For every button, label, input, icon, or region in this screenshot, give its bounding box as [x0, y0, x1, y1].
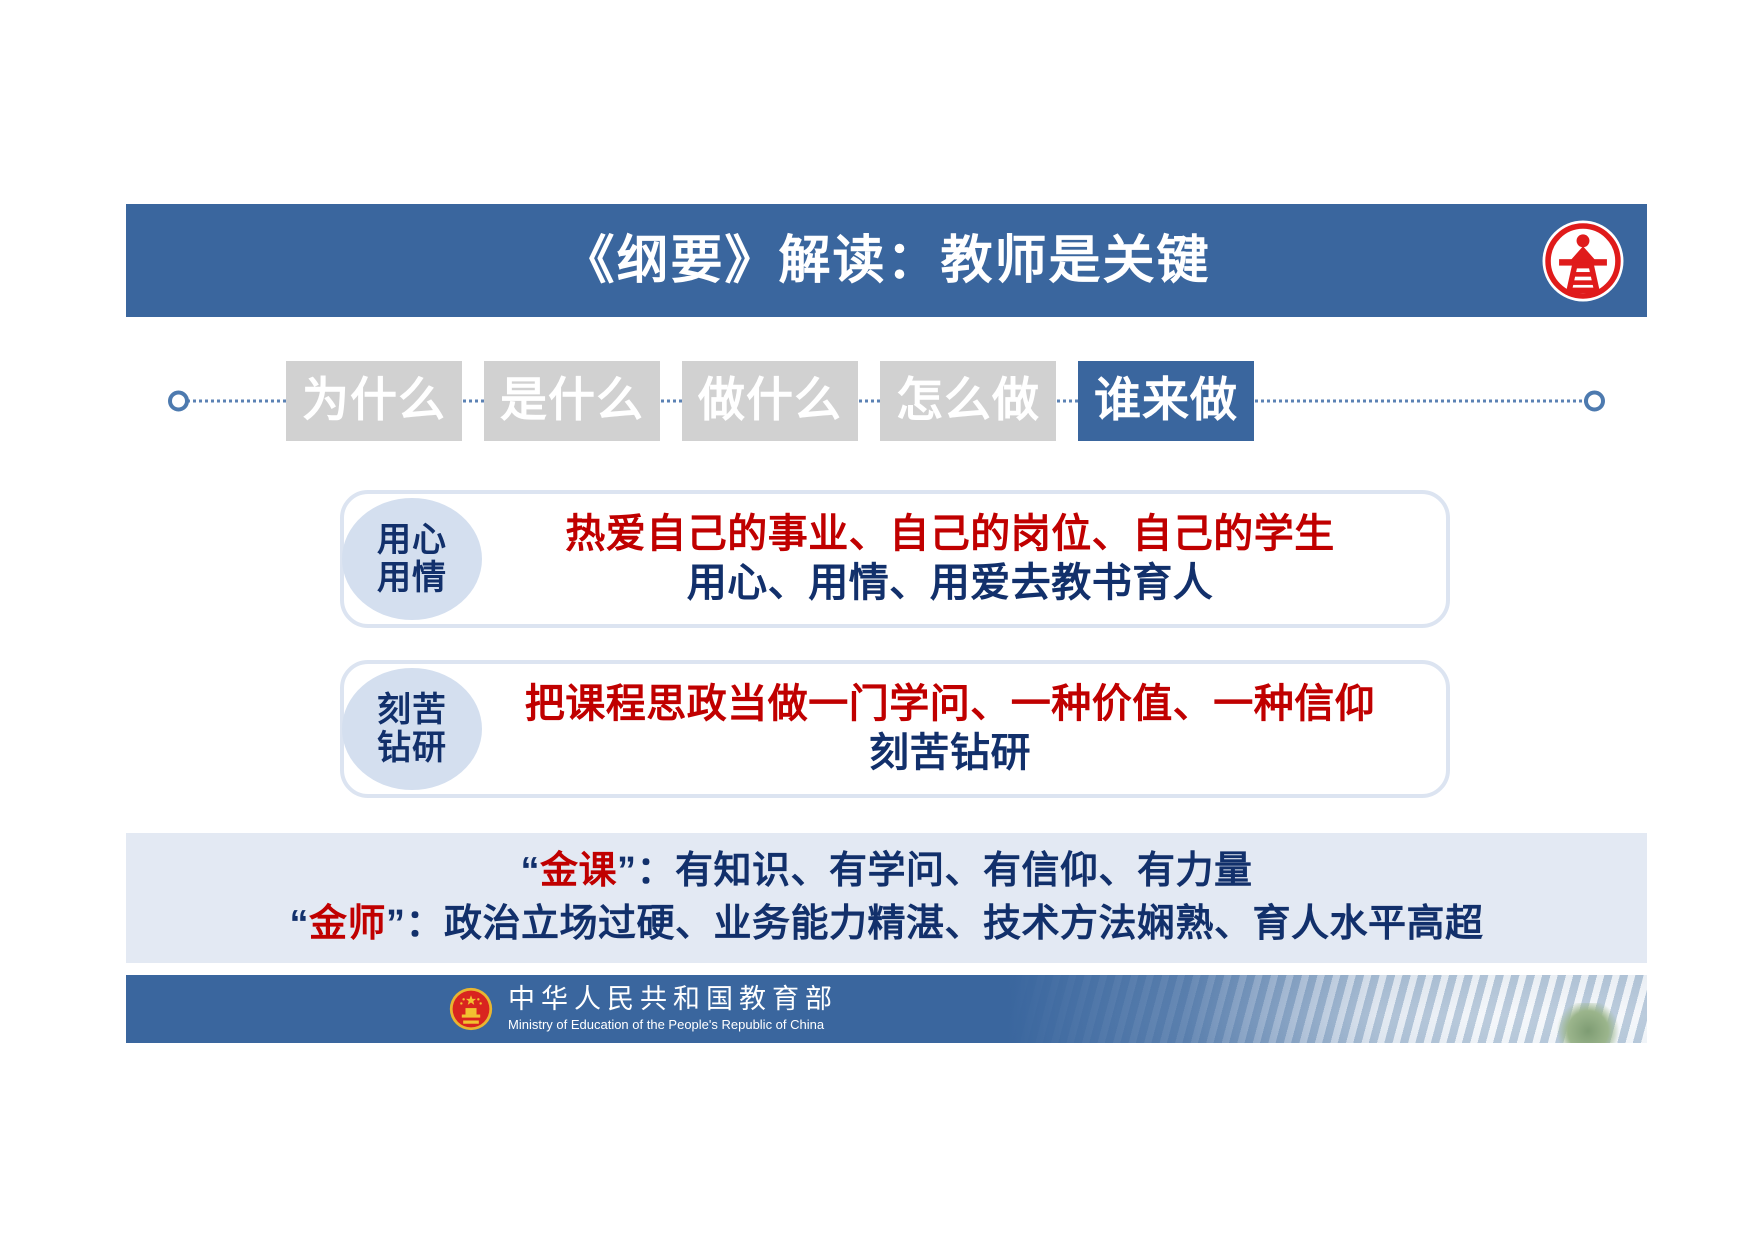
content-card-1-text: 热爱自己的事业、自己的岗位、自己的学生 用心、用情、用爱去教书育人	[470, 510, 1430, 608]
step-items: 为什么 是什么 做什么 怎么做 谁来做	[286, 352, 1254, 450]
university-tower-emblem-icon	[1537, 215, 1629, 307]
step-navigation: 为什么 是什么 做什么 怎么做 谁来做	[126, 352, 1647, 450]
footer-text-block: 中华人民共和国教育部 Ministry of Education of the …	[508, 985, 838, 1032]
card-1-red-line: 热爱自己的事业、自己的岗位、自己的学生	[470, 510, 1430, 559]
slide-title-bar: 《纲要》解读：教师是关键	[126, 204, 1647, 317]
footer-org-cn: 中华人民共和国教育部	[508, 985, 838, 1015]
slide-canvas: 《纲要》解读：教师是关键 为什么 是什么 做什么 怎么做 谁来做	[0, 0, 1755, 1241]
nav-item-how[interactable]: 怎么做	[880, 361, 1056, 441]
summary-line-2: “金师”：政治立场过硬、业务能力精湛、技术方法娴熟、育人水平高超	[289, 901, 1483, 949]
card-2-badge-line-2: 钻研	[377, 729, 447, 767]
content-card-2: 把课程思政当做一门学问、一种价值、一种信仰 刻苦钻研	[340, 660, 1450, 798]
summary-line-1-suffix: ”：有知识、有学问、有信仰、有力量	[617, 850, 1253, 892]
summary-line-1-prefix: “	[520, 850, 540, 892]
nav-item-who[interactable]: 谁来做	[1078, 361, 1254, 441]
nav-item-do-what[interactable]: 做什么	[682, 361, 858, 441]
content-card-2-text: 把课程思政当做一门学问、一种价值、一种信仰 刻苦钻研	[470, 680, 1430, 778]
summary-line-1-highlight: 金课	[540, 850, 617, 892]
card-1-navy-line: 用心、用情、用爱去教书育人	[470, 559, 1430, 608]
nav-item-what[interactable]: 是什么	[484, 361, 660, 441]
summary-line-2-suffix: ”：政治立场过硬、业务能力精湛、技术方法娴熟、育人水平高超	[386, 903, 1484, 945]
card-2-navy-line: 刻苦钻研	[470, 729, 1430, 778]
china-national-emblem-icon	[448, 986, 494, 1032]
summary-line-1: “金课”：有知识、有学问、有信仰、有力量	[520, 848, 1252, 896]
card-2-badge-line-1: 刻苦	[377, 691, 447, 729]
card-2-red-line: 把课程思政当做一门学问、一种价值、一种信仰	[470, 680, 1430, 729]
summary-line-2-highlight: 金师	[309, 903, 386, 945]
card-2-badge: 刻苦 钻研	[342, 668, 482, 790]
card-1-badge-line-2: 用情	[377, 559, 447, 597]
nav-item-why[interactable]: 为什么	[286, 361, 462, 441]
card-1-badge-line-1: 用心	[377, 521, 447, 559]
card-1-badge: 用心 用情	[342, 498, 482, 620]
footer-org-en: Ministry of Education of the People's Re…	[508, 1017, 838, 1033]
ministry-building-photo	[1007, 975, 1647, 1043]
page-title: 《纲要》解读：教师是关键	[562, 235, 1210, 287]
footer-branding: 中华人民共和国教育部 Ministry of Education of the …	[448, 975, 838, 1043]
step-endpoint-right-icon	[1584, 391, 1605, 412]
step-endpoint-left-icon	[168, 391, 189, 412]
summary-line-2-prefix: “	[289, 903, 309, 945]
summary-box: “金课”：有知识、有学问、有信仰、有力量 “金师”：政治立场过硬、业务能力精湛、…	[126, 833, 1647, 963]
content-card-1: 热爱自己的事业、自己的岗位、自己的学生 用心、用情、用爱去教书育人	[340, 490, 1450, 628]
footer-bar: 中华人民共和国教育部 Ministry of Education of the …	[126, 975, 1647, 1043]
